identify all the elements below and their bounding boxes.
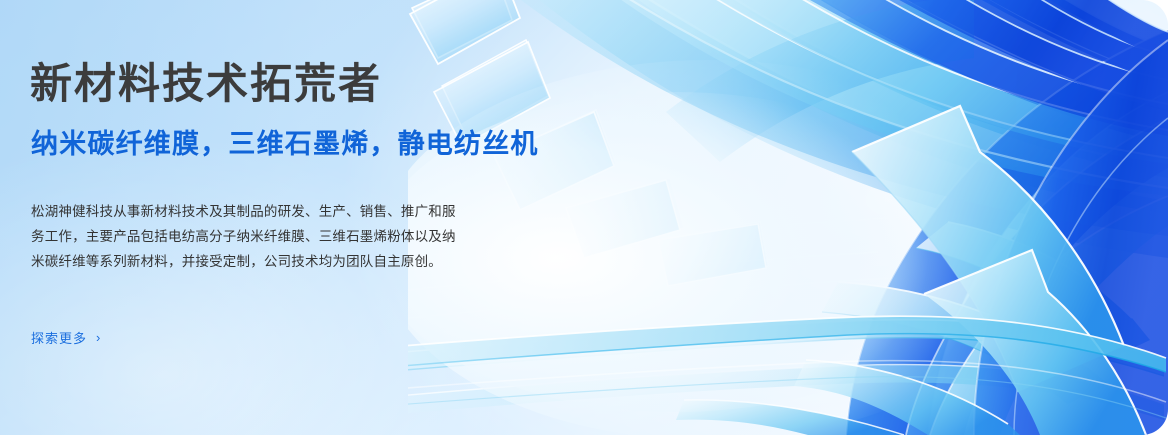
banner-content: 新材料技术拓荒者 纳米碳纤维膜，三维石墨烯，静电纺丝机 松湖神健科技从事新材料技… [30,0,730,435]
description-line-3: 米碳纤维等系列新材料，并接受定制，公司技术均为团队自主原创。 [31,249,521,274]
explore-more-label: 探索更多 [31,328,87,347]
banner-description: 松湖神健科技从事新材料技术及其制品的研发、生产、销售、推广和服 务工作，主要产品… [31,199,521,274]
description-line-2: 务工作，主要产品包括电纺高分子纳米纤维膜、三维石墨烯粉体以及纳 [31,224,521,249]
hero-banner: 新材料技术拓荒者 纳米碳纤维膜，三维石墨烯，静电纺丝机 松湖神健科技从事新材料技… [0,0,1168,435]
chevron-right-icon: › [96,331,101,344]
banner-subtitle: 纳米碳纤维膜，三维石墨烯，静电纺丝机 [31,128,539,160]
page-title: 新材料技术拓荒者 [30,60,382,107]
explore-more-link[interactable]: 探索更多 › [31,328,101,347]
description-line-1: 松湖神健科技从事新材料技术及其制品的研发、生产、销售、推广和服 [31,199,521,224]
